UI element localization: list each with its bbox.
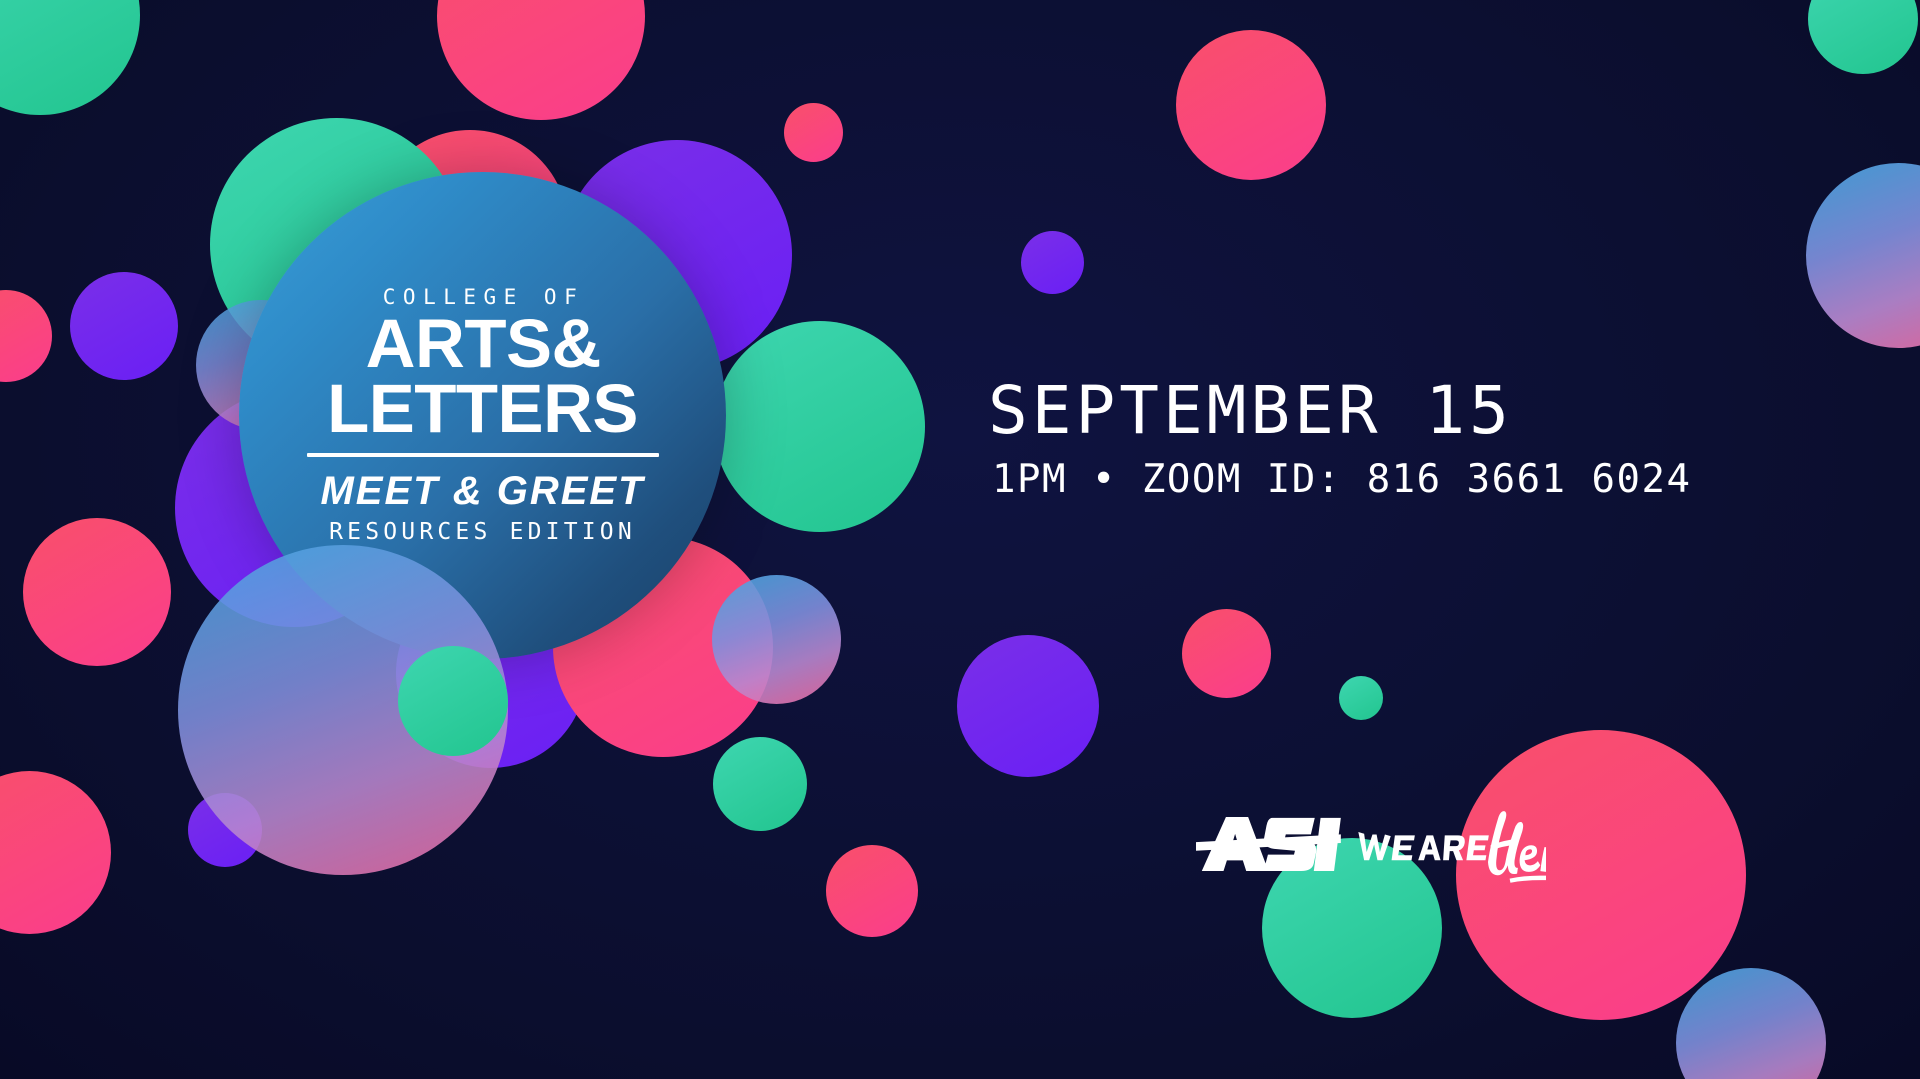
bubble-teal-top-left xyxy=(0,0,140,115)
bubble-pink-large-top-right xyxy=(1176,30,1326,180)
asi-tagline xyxy=(1355,800,1546,884)
asi-brand-lockup xyxy=(1196,786,1546,876)
bubble-teal-dot-right xyxy=(1339,676,1383,720)
bubble-blend-bottom-small xyxy=(712,575,841,704)
bubble-purple-bottom-right xyxy=(957,635,1099,777)
bubble-teal-right-of-logo xyxy=(714,321,925,532)
logo-divider-rule xyxy=(307,453,659,457)
asi-logo-mark xyxy=(1196,812,1341,876)
bubble-pink-top-center xyxy=(437,0,645,120)
bubble-pink-small-top xyxy=(784,103,843,162)
bubble-purple-left-mid xyxy=(70,272,178,380)
bubble-pink-left-lower xyxy=(23,518,171,666)
event-info: SEPTEMBER 15 1PM • ZOOM ID: 816 3661 602… xyxy=(988,378,1508,499)
bubble-teal-edge-top-right xyxy=(1808,0,1918,74)
bubble-blend-edge-right xyxy=(1806,163,1920,348)
bubble-blend-bottom-edge xyxy=(1676,968,1826,1079)
logo-line-arts: ARTS& xyxy=(366,312,600,376)
bubble-teal-small-overlap xyxy=(398,646,508,756)
bubble-pink-left-edge xyxy=(0,290,52,382)
bubble-teal-bottom-center xyxy=(713,737,807,831)
bubble-pink-bottom-right-md xyxy=(1182,609,1271,698)
event-time-and-zoom-id: 1PM • ZOOM ID: 816 3661 6024 xyxy=(992,460,1508,499)
bubble-purple-small-mid xyxy=(1021,231,1084,294)
event-date: SEPTEMBER 15 xyxy=(988,378,1508,444)
logo-line-letters: LETTERS xyxy=(327,377,638,441)
logo-subtitle: MEET & GREET xyxy=(320,471,644,511)
bubble-pink-bottom-center xyxy=(826,845,918,937)
flyer-canvas: COLLEGE OF ARTS& LETTERS MEET & GREET RE… xyxy=(0,0,1920,1079)
logo-edition: RESOURCES EDITION xyxy=(329,521,636,544)
bubble-pink-bottom-left xyxy=(0,771,111,934)
